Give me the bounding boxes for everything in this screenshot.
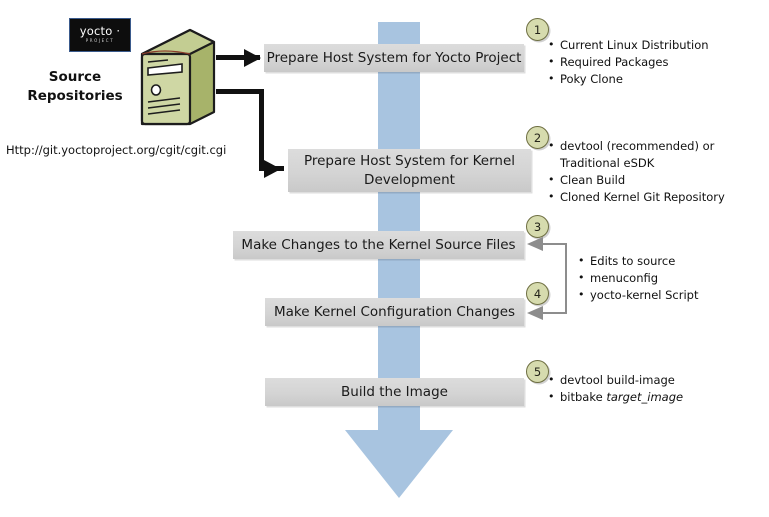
bracket-connector-bottom xyxy=(543,312,567,314)
list-item: Poky Clone xyxy=(548,71,763,88)
flow-arrow-head-icon xyxy=(345,430,453,498)
list-item: Edits to source xyxy=(578,253,758,270)
arrowhead-right-icon xyxy=(264,160,281,178)
list-item-text-emphasis: target_image xyxy=(606,390,683,404)
list-item: Cloned Kernel Git Repository xyxy=(548,189,766,206)
source-repositories-label: Source Repositories xyxy=(20,68,130,106)
diagram-canvas: yocto · PROJECT Source Repositories Http… xyxy=(0,0,769,517)
list-item-text: devtool (recommended) or xyxy=(560,139,714,153)
connector-server-to-box2-segment2 xyxy=(259,89,264,171)
step-marker-5: 5 xyxy=(526,360,549,383)
list-item: Required Packages xyxy=(548,54,763,71)
arrowhead-left-icon xyxy=(527,306,543,320)
notes-step-3-and-4: Edits to source menuconfig yocto-kernel … xyxy=(578,253,758,304)
yocto-project-logo: yocto · PROJECT xyxy=(69,18,131,52)
flow-arrow-shaft xyxy=(378,22,420,432)
process-box-prepare-host-kernel[interactable]: Prepare Host System for Kernel Developme… xyxy=(288,149,531,192)
logo-wordmark: yocto · xyxy=(80,26,120,37)
arrowhead-right-icon xyxy=(244,49,261,67)
list-item: Current Linux Distribution xyxy=(548,37,763,54)
step-marker-2: 2 xyxy=(526,126,549,149)
source-repository-url: Http://git.yoctoproject.org/cgit/cgit.cg… xyxy=(6,143,226,157)
process-box-prepare-host-yocto[interactable]: Prepare Host System for Yocto Project xyxy=(264,44,524,72)
list-item-text-continued: Traditional eSDK xyxy=(560,155,766,172)
list-item: Clean Build xyxy=(548,172,766,189)
bracket-connector-vertical xyxy=(565,243,567,314)
list-item: menuconfig xyxy=(578,270,758,287)
notes-step-5: devtool build-image bitbake target_image xyxy=(548,372,748,406)
step-marker-1: 1 xyxy=(526,18,549,41)
source-label-line1: Source xyxy=(20,68,130,87)
notes-step-1: Current Linux Distribution Required Pack… xyxy=(548,37,763,88)
arrowhead-left-icon xyxy=(527,237,543,251)
server-icon xyxy=(134,28,218,136)
bracket-connector-top xyxy=(543,243,567,245)
connector-server-to-box2-segment1 xyxy=(216,89,264,94)
process-box-build-the-image[interactable]: Build the Image xyxy=(265,378,524,406)
source-label-line2: Repositories xyxy=(20,87,130,106)
logo-subtext: PROJECT xyxy=(86,38,114,44)
process-box-make-kernel-config-changes[interactable]: Make Kernel Configuration Changes xyxy=(265,298,524,326)
step-marker-4: 4 xyxy=(526,282,549,305)
list-item: yocto-kernel Script xyxy=(578,287,758,304)
notes-step-2: devtool (recommended) or Traditional eSD… xyxy=(548,138,766,206)
list-item: devtool build-image xyxy=(548,372,748,389)
step-marker-3: 3 xyxy=(526,215,549,238)
process-box-make-changes-kernel-source[interactable]: Make Changes to the Kernel Source Files xyxy=(233,231,524,259)
list-item-text: bitbake xyxy=(560,390,606,404)
list-item: devtool (recommended) or Traditional eSD… xyxy=(548,138,766,172)
list-item: bitbake target_image xyxy=(548,389,748,406)
